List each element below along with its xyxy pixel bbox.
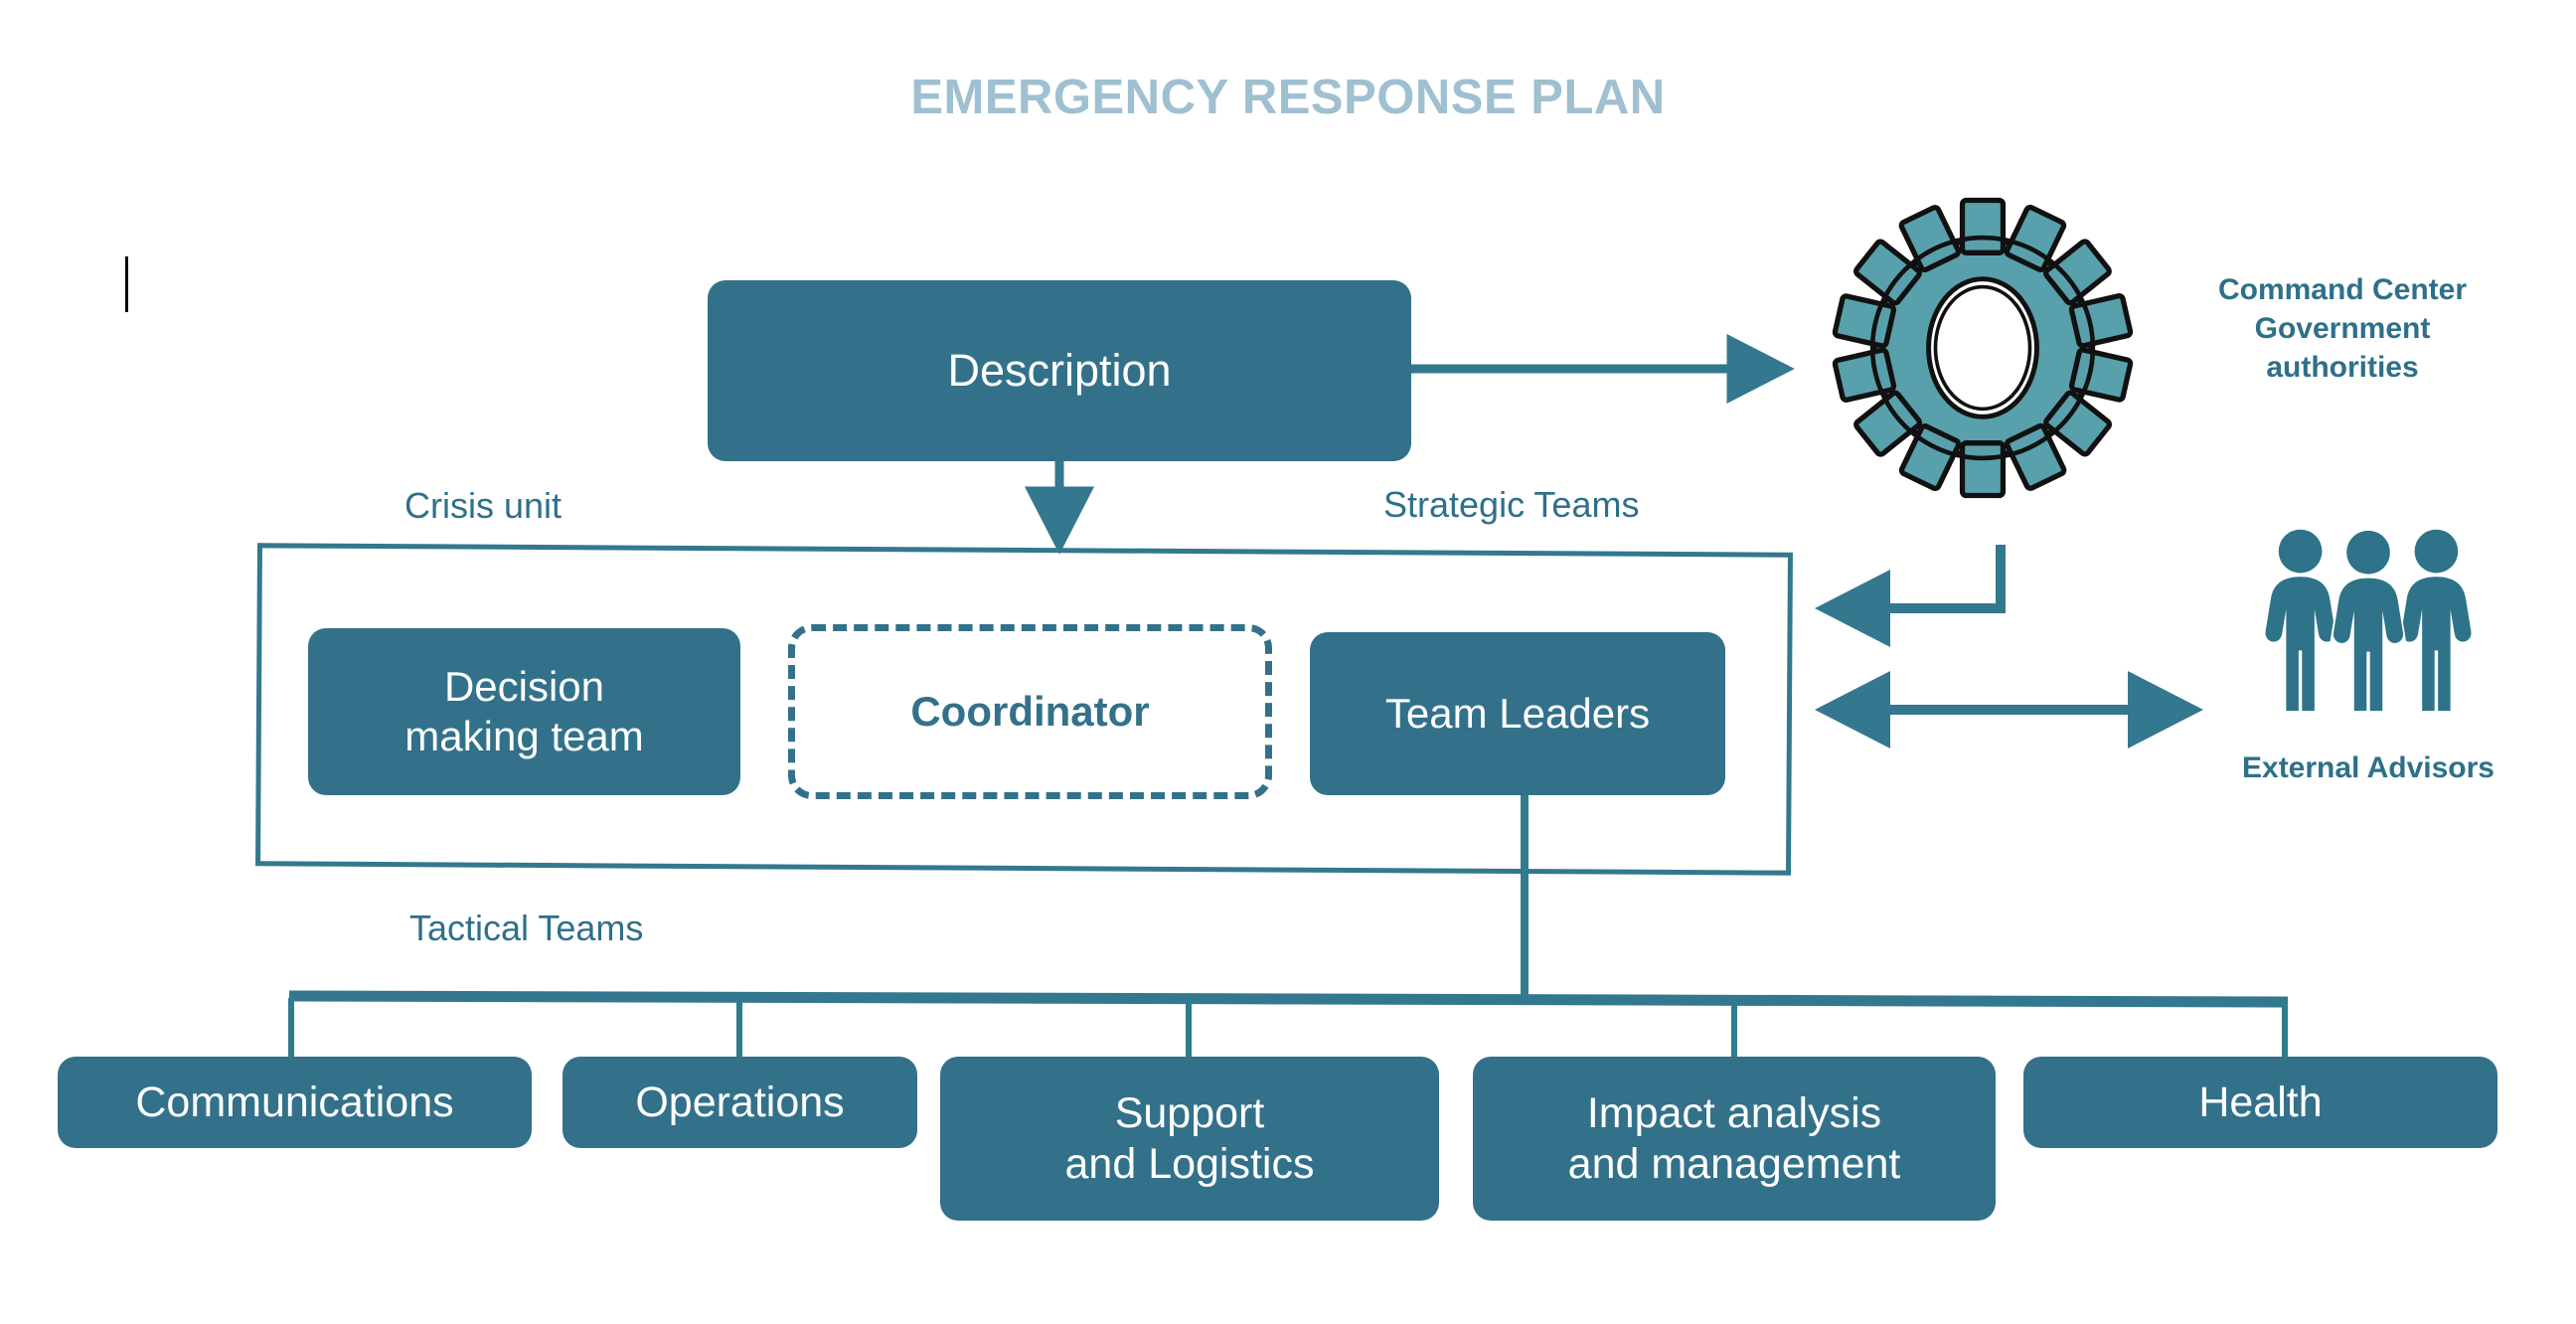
tactical-label-support-and-logistics: Support and Logistics	[1065, 1088, 1315, 1189]
text-cursor-caret	[125, 256, 128, 312]
external-advisors-people-wrap	[2244, 525, 2493, 714]
tactical-label-impact-analysis: Impact analysis and management	[1568, 1088, 1901, 1189]
coordinator-label: Coordinator	[910, 688, 1149, 736]
external-advisors-label: External Advisors	[2194, 748, 2542, 787]
three-people-icon	[2244, 525, 2493, 714]
tactical-teams-label: Tactical Teams	[409, 908, 643, 949]
tactical-box-support-and-logistics[interactable]: Support and Logistics	[940, 1057, 1439, 1221]
decision-making-team-label: Decision making team	[404, 662, 643, 760]
diagram-canvas: EMERGENCY RESPONSE PLAN	[0, 0, 2576, 1324]
tactical-label-operations: Operations	[635, 1077, 844, 1128]
team-leaders-box[interactable]: Team Leaders	[1310, 632, 1725, 795]
coordinator-box[interactable]: Coordinator	[788, 624, 1272, 799]
tactical-box-health[interactable]: Health	[2023, 1057, 2497, 1148]
description-box[interactable]: Description	[708, 280, 1411, 461]
strategic-teams-label: Strategic Teams	[1383, 484, 1639, 526]
team-leaders-label: Team Leaders	[1385, 689, 1650, 739]
tactical-box-communications[interactable]: Communications	[58, 1057, 532, 1148]
command-center-label: Command Center Government authorities	[2178, 270, 2506, 387]
connector-tactical-bus	[289, 996, 2288, 1002]
page-title: EMERGENCY RESPONSE PLAN	[0, 70, 2576, 125]
decision-making-team-box[interactable]: Decision making team	[308, 628, 740, 795]
tactical-label-communications: Communications	[135, 1077, 453, 1128]
command-center-gear-wrap	[1819, 184, 2147, 512]
tactical-label-health: Health	[2198, 1077, 2322, 1128]
gear-icon	[1819, 184, 2147, 512]
description-label: Description	[947, 344, 1171, 397]
crisis-unit-label: Crisis unit	[404, 485, 562, 527]
tactical-box-impact-analysis[interactable]: Impact analysis and management	[1473, 1057, 1996, 1221]
arrow-command-center-to-crisis-unit	[1827, 545, 2001, 608]
tactical-box-operations[interactable]: Operations	[563, 1057, 917, 1148]
